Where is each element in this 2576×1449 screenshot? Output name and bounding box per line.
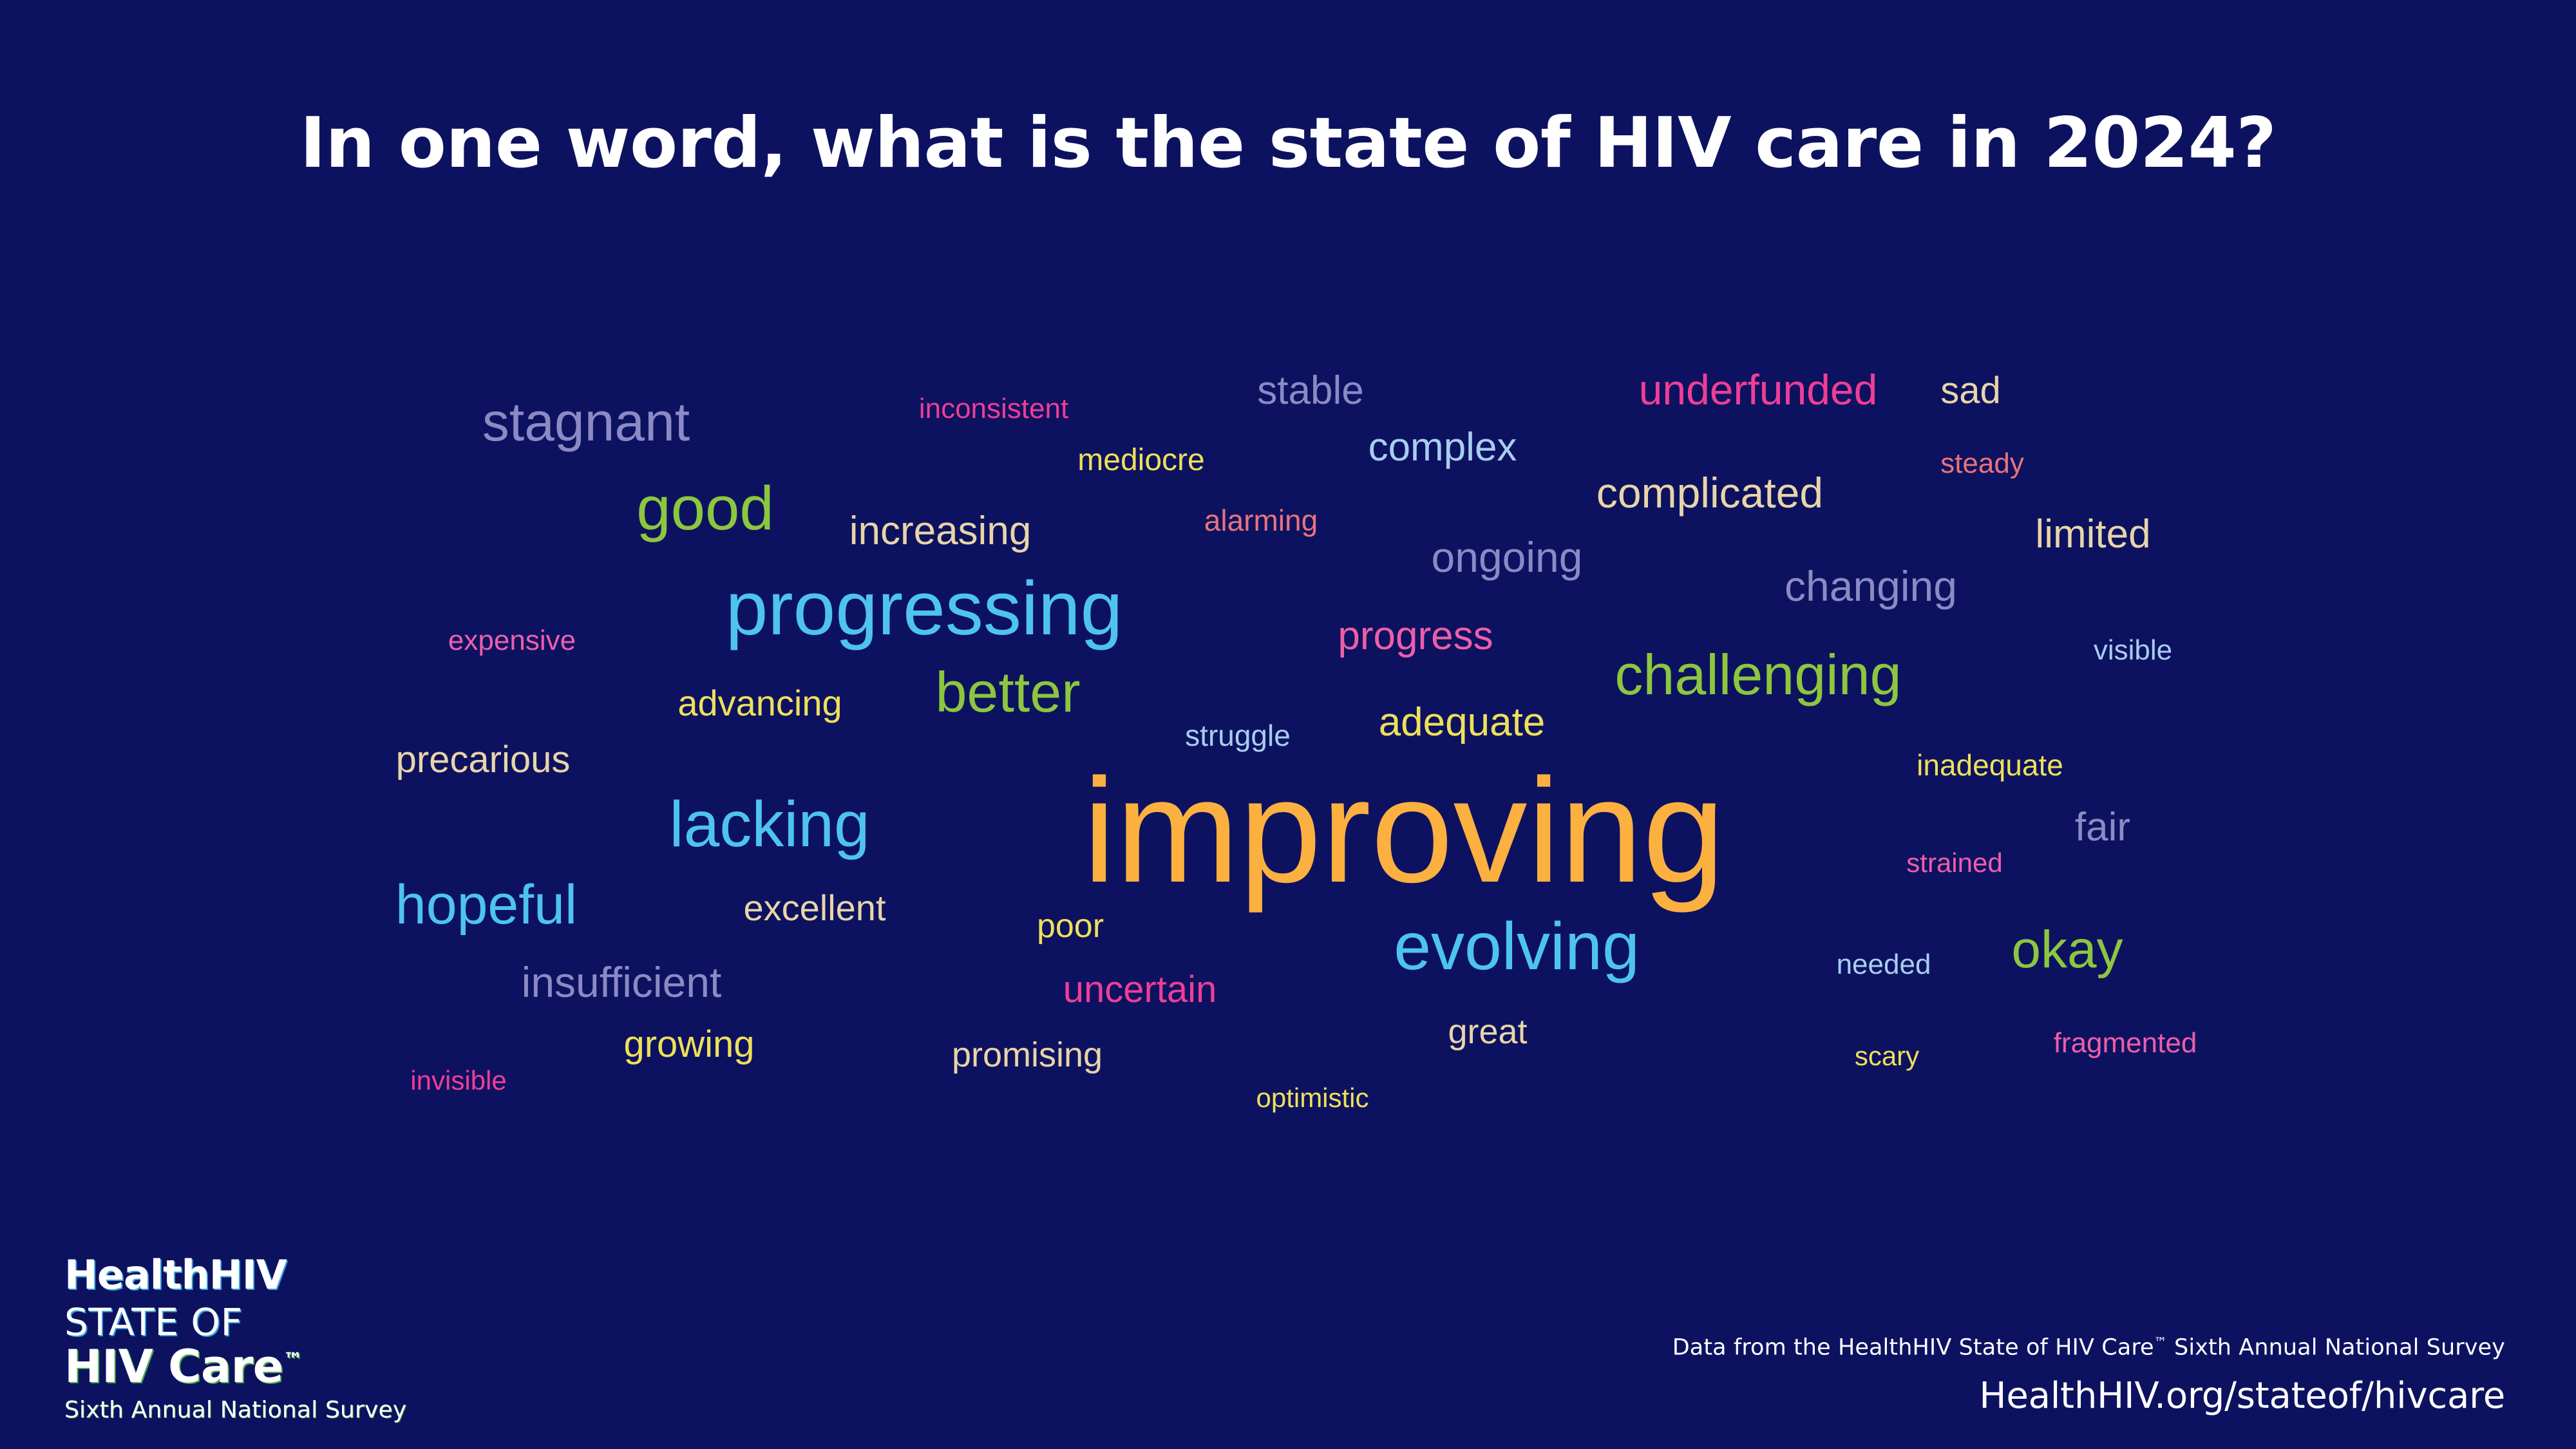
logo-brand: HealthHIV (64, 1254, 406, 1297)
cloud-word: strained (1906, 849, 2002, 876)
cloud-word: complicated (1596, 471, 1823, 514)
cloud-word: scary (1855, 1043, 1919, 1070)
healthhiv-logo: HealthHIV STATE OF HIV Care™ Sixth Annua… (64, 1254, 406, 1423)
footer: Data from the HealthHIV State of HIV Car… (1672, 1334, 2505, 1417)
data-source-note: Data from the HealthHIV State of HIV Car… (1672, 1334, 2505, 1361)
cloud-word: inadequate (1917, 750, 2063, 780)
cloud-word: visible (2094, 636, 2172, 665)
cloud-word: adequate (1379, 703, 1546, 743)
cloud-word: needed (1837, 951, 1931, 979)
cloud-word: fragmented (2054, 1029, 2197, 1057)
cloud-word: evolving (1394, 913, 1640, 980)
logo-hiv-care: HIV Care™ (64, 1343, 406, 1391)
cloud-word: progressing (726, 571, 1123, 647)
cloud-word: hopeful (395, 877, 577, 933)
cloud-word: good (636, 478, 774, 540)
cloud-word: optimistic (1256, 1084, 1368, 1112)
logo-subtitle: Sixth Annual National Survey (64, 1397, 406, 1423)
cloud-word: limited (2035, 515, 2150, 554)
cloud-word: insufficient (522, 961, 722, 1003)
cloud-word: fair (2075, 808, 2130, 848)
cloud-word: promising (952, 1037, 1103, 1072)
cloud-word: improving (1083, 757, 1725, 905)
cloud-word: growing (623, 1026, 754, 1063)
data-source-suffix: Sixth Annual National Survey (2167, 1335, 2505, 1361)
cloud-word: great (1448, 1014, 1527, 1049)
cloud-word: better (935, 664, 1080, 721)
word-cloud: improvingprogressingevolvinglackinghopef… (0, 0, 2576, 1191)
logo-state-of: STATE OF (64, 1302, 406, 1343)
cloud-word: uncertain (1063, 971, 1217, 1009)
cloud-word: excellent (743, 890, 885, 926)
cloud-word: poor (1037, 909, 1104, 943)
cloud-word: okay (2011, 923, 2123, 976)
cloud-word: complex (1368, 428, 1517, 468)
cloud-word: increasing (849, 511, 1032, 551)
cloud-word: sad (1940, 372, 2001, 410)
cloud-word: expensive (448, 627, 576, 655)
cloud-word: changing (1785, 565, 1957, 607)
cloud-word: advancing (677, 685, 842, 721)
cloud-word: challenging (1615, 647, 1901, 703)
data-source-prefix: Data from the HealthHIV State of HIV Car… (1672, 1335, 2154, 1361)
trademark-icon: ™ (283, 1349, 303, 1371)
cloud-word: precarious (396, 741, 571, 779)
cloud-word: lacking (669, 792, 869, 857)
cloud-word: struggle (1185, 721, 1291, 750)
cloud-word: invisible (410, 1067, 506, 1094)
trademark-icon: ™ (2154, 1334, 2167, 1350)
cloud-word: ongoing (1432, 536, 1583, 578)
logo-hiv-care-text: HIV Care (64, 1340, 283, 1393)
website-url[interactable]: HealthHIV.org/stateof/hivcare (1672, 1375, 2505, 1417)
cloud-word: stable (1257, 371, 1363, 411)
word-cloud-slide: In one word, what is the state of HIV ca… (0, 0, 2576, 1449)
cloud-word: underfunded (1639, 368, 1878, 411)
cloud-word: steady (1940, 450, 2024, 478)
cloud-word: progress (1338, 616, 1493, 656)
cloud-word: mediocre (1077, 445, 1204, 476)
cloud-word: alarming (1204, 506, 1318, 535)
cloud-word: stagnant (482, 395, 690, 449)
cloud-word: inconsistent (919, 395, 1068, 423)
